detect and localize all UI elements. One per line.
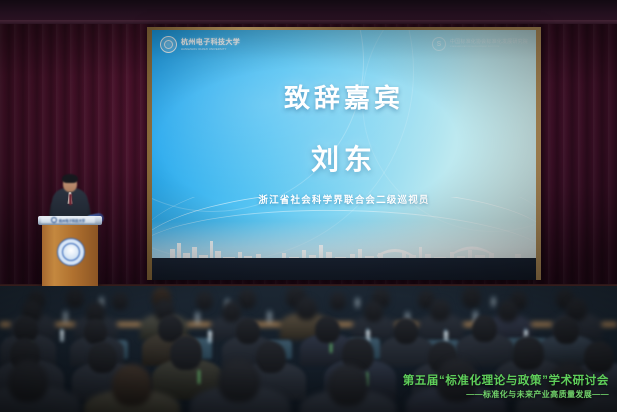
podium-nameplate: 杭州电子科技大学 bbox=[41, 217, 95, 223]
watermark-line-2: ——标准化与未来产业高质量发展—— bbox=[403, 389, 609, 400]
watermark-line-1: 第五届“标准化理论与政策”学术研讨会 bbox=[403, 374, 609, 388]
podium-seal-icon bbox=[51, 217, 57, 223]
university-crest-icon bbox=[57, 238, 85, 266]
speaker-hair bbox=[62, 174, 78, 183]
conference-photo: 杭州电子科技大学 HANGZHOU DIANZI UNIVERSITY S 中国… bbox=[0, 0, 617, 412]
event-watermark: 第五届“标准化理论与政策”学术研讨会 ——标准化与未来产业高质量发展—— bbox=[403, 374, 609, 400]
speaker-tie bbox=[69, 194, 72, 205]
podium-nameplate-text: 杭州电子科技大学 bbox=[59, 218, 85, 223]
